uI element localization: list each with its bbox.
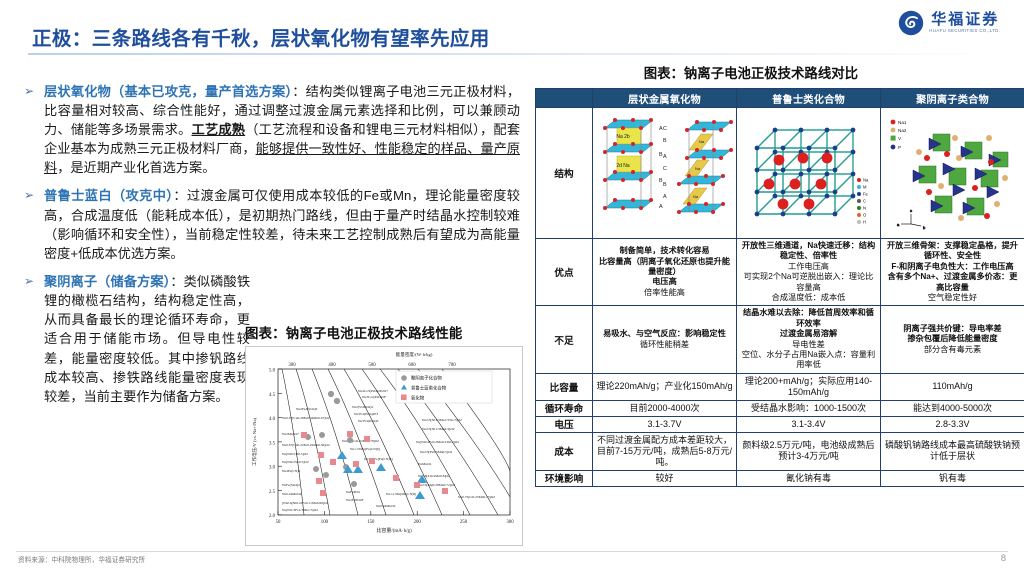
svg-text:B: B [663,182,667,188]
text-line: 循环性能稍差 [596,340,733,350]
svg-text:A: A [659,204,663,210]
text-line: 空气稳定性好 [884,293,1021,303]
table-header-polyanion: 聚阴离子类合物 [881,89,1024,108]
slide: 正极：三条路线各有千秋，层状氧化物有望率先应用 华福证券 HUAFU SECUR… [0,0,1024,576]
svg-text:Na4Co3(PO4)2P2O7: Na4Co3(PO4)2P2O7 [358,389,388,393]
chart-legend: 聚阴离子化合物 普鲁士蓝类化合物 氧化物 [396,371,492,403]
table-header-corner [536,89,593,108]
text-line: 可实现2个Na可逆脱出嵌入：理论比容量高 [740,272,877,293]
bullet-body-3: ，是近期产业化首选方案。 [57,160,215,175]
text-line: F-和阴离子电负性大：工作电压高 [884,262,1021,272]
svg-text:200: 200 [414,520,422,525]
chart-y-axis-label: 工作电压/V (vs. Na+/Na) [251,418,258,467]
svg-text:P: P [898,145,901,150]
bullet-colon: ： [170,274,183,289]
svg-text:a: a [897,222,900,227]
svg-text:700: 700 [448,363,456,368]
svg-text:2d Na: 2d Na [616,163,630,169]
cell-capacity-prussian: 理论200+mAh/g；实际应用140-150mAh/g [737,373,881,400]
svg-text:Na: Na [699,139,705,144]
text-line: 阴离子强共价键：导电率差 [884,324,1021,334]
text-line: 空位、水分子占用Na嵌入点：容量利用率低 [740,350,877,371]
text-line: 过渡金属易溶解 [740,329,877,339]
svg-text:A: A [663,154,667,160]
svg-text:300: 300 [288,363,296,368]
text-line: 倍率性能高 [596,288,733,298]
svg-text:B: B [663,138,667,144]
svg-text:Na 2b: Na 2b [616,134,630,140]
polyanion-structure-diagram: Na1 Na2 V P [881,108,1024,238]
logo-text-en: HUAFU SECURITIES CO.,LTD. [930,28,1001,33]
svg-text:4.0: 4.0 [269,417,276,422]
cell-cycle-layered-oxide: 目前2000-4000次 [593,400,737,416]
cell-voltage-polyanion: 2.8-3.3V [881,416,1024,432]
table-header-prussian: 普鲁士类化合物 [737,89,881,108]
footer-divider [16,551,1008,552]
svg-text:Na2/3[Fe0.5Mn0.5]O2: Na2/3[Fe0.5Mn0.5]O2 [420,450,453,454]
row-header-disadvantages: 不足 [536,306,593,373]
svg-text:Na3Co2(PO4)2F: Na3Co2(PO4)2F [362,395,386,399]
svg-text:3.0: 3.0 [269,466,276,471]
cell-environment-layered-oxide: 较好 [593,470,737,486]
svg-text:Na2FePO4F: Na2FePO4F [346,498,364,502]
cell-advantages-polyanion: 开放三维骨架：支撑稳定晶格，提升循环性、安全性 F-和阴离子电负性大：工作电压高… [881,239,1024,306]
cell-cost-polyanion: 磷酸钒钠路线成本最高硫酸铁钠预计低于层状 [881,432,1024,470]
row-header-cycle-life: 循环寿命 [536,400,593,416]
cell-voltage-prussian: 3.1-3.4V [737,416,881,432]
company-logo: 华福证券 HUAFU SECURITIES CO.,LTD. [898,10,1000,36]
svg-text:600: 600 [408,363,416,368]
text-line: 合成温度低：成本低 [740,293,877,303]
bullet-prussian-blue: ➢ 普鲁士蓝白（攻克中）：过渡金属可仅使用成本较低的Fe或Mn，理论能量密度较高… [22,186,520,262]
text-line: 掺杂包覆后降低能量密度 [884,334,1021,344]
svg-text:Na2Mn3O7: Na2Mn3O7 [282,432,299,436]
svg-text:Na2/3[Ni1/3Mn2/3]O2: Na2/3[Ni1/3Mn2/3]O2 [422,427,455,431]
svg-text:聚阴离子化合物: 聚阴离子化合物 [411,375,442,382]
svg-text:普鲁士蓝类化合物: 普鲁士蓝类化合物 [411,384,447,391]
cell-disadvantages-layered-oxide: 易吸水、与空气反应：影响稳定性 循环性能稍差 [593,306,737,373]
svg-text:3.5: 3.5 [269,441,276,446]
text-line: 电压高 [596,277,733,287]
spiral-logo-icon [898,10,924,36]
svg-text:C: C [663,166,667,172]
table-row: 不足 易吸水、与空气反应：影响稳定性 循环性能稍差 结晶水难以去除：降低首周效率… [536,306,1024,373]
cell-advantages-layered-oxide: 制备简单，技术转化容易 比容量高（阴离子氧化还原也提升能量密度） 电压高 倍率性… [593,239,737,306]
text-line: 比容量高（阴离子氧化还原也提升能量密度） [596,257,733,278]
svg-text:氧化物: 氧化物 [411,394,425,401]
cell-cost-layered-oxide: 不同过渡金属配方成本差距较大，目前7-15万元/吨，成熟后5-8万元/吨。 [593,432,737,470]
svg-text:C: C [663,126,667,132]
svg-text:Na2: Na2 [898,128,907,133]
cell-cycle-polyanion: 能达到4000-5000次 [881,400,1024,416]
svg-text:V: V [898,136,902,141]
chart-top-axis-label: 能量密度/(W·h/kg) [396,351,433,358]
page-title: 正极：三条路线各有千秋，层状氧化物有望率先应用 [32,22,490,51]
bullet-arrow-icon: ➢ [24,274,34,288]
bullet-text: 聚阴离子（储备方案）：类似磷酸铁锂的橄榄石结构，结构稳定性高，从而具备最长的理论… [44,272,250,406]
bullet-text: 层状氧化物（基本已攻克，量产首选方案）：结构类似锂离子电池三元正极材料，比容量相… [44,82,520,177]
svg-text:Na[Ni0.4Fe0.2Mn0.2Ti0.2]O2: Na[Ni0.4Fe0.2Mn0.2Ti0.2]O2 [416,440,459,444]
row-header-specific-capacity: 比容量 [536,373,593,400]
layered-metal-oxide-structure-diagram: Na 2b 2d Na AB BA [593,108,736,238]
svg-text:NaFe(SO4)2: NaFe(SO4)2 [282,483,300,487]
table-header-layered-oxide: 层状金属氧化物 [593,89,737,108]
bullet-layered-oxide: ➢ 层状氧化物（基本已攻克，量产首选方案）：结构类似锂离子电池三元正极材料，比容… [22,82,520,177]
svg-text:Na: Na [695,166,701,171]
svg-text:Na1.x Mn[Mn(CN)6]: Na1.x Mn[Mn(CN)6] [386,492,416,496]
svg-text:Na2Fe2(SO4)3: Na2Fe2(SO4)3 [296,407,318,411]
svg-text:Na0.44MnO2: Na0.44MnO2 [376,504,396,508]
cell-cycle-prussian: 受结晶水影响：1000-1500次 [737,400,881,416]
text-line: 开放三维骨架：支撑稳定晶格，提升循环性、安全性 [884,241,1021,262]
cell-capacity-polyanion: 110mAh/g [881,373,1024,400]
cell-environment-prussian: 氰化钠有毒 [737,470,881,486]
svg-text:NaFePO4: NaFePO4 [346,490,360,494]
text-line: 开放性三维通道，Na快速迁移：结构稳定性、倍率性 [740,241,877,262]
cell-structure-prussian: Na M Fe C N O H [737,108,881,239]
row-header-voltage: 电压 [536,416,593,432]
svg-text:Na3V2(PO4)2F3: Na3V2(PO4)2F3 [354,412,378,416]
cell-environment-polyanion: 钒有毒 [881,470,1024,486]
scatter-chart: 能量密度/(W·h/kg) 300 400 500 600 700 5.0 4.… [246,347,522,545]
svg-text:50: 50 [276,520,281,525]
text-line: 部分含有毒元素 [884,345,1021,355]
svg-text:5.0: 5.0 [269,369,276,374]
svg-text:Na1: Na1 [898,120,907,125]
source-note: 资料来源：中科院物理所，华福证券研究所 [18,554,145,564]
svg-text:2.5: 2.5 [269,490,276,495]
row-header-environment: 环境影响 [536,470,593,486]
chart-caption: 图表：钠离子电池正极技术路线性能 [245,322,523,342]
page-number: 8 [1001,553,1006,564]
cell-advantages-prussian: 开放性三维通道，Na快速迁移：结构稳定性、倍率性 工作电压高 可实现2个Na可逆… [737,239,881,306]
text-line: 工作电压高 [740,262,877,272]
bullet-emphasis-1: 工艺成熟 [192,122,246,137]
svg-text:Na2/3[Mg0.28Mn0.72]O2: Na2/3[Mg0.28Mn0.72]O2 [418,483,455,487]
svg-text:250: 250 [460,520,468,525]
svg-text:100: 100 [321,520,329,525]
table-row: 循环寿命 目前2000-4000次 受结晶水影响：1000-1500次 能达到4… [536,400,1024,416]
comparison-table-wrap: 层状金属氧化物 普鲁士类化合物 聚阴离子类合物 结构 [535,88,1024,487]
text-line: 含有多个Na+、过渡金属多价态：更高比容量 [884,272,1021,293]
table-caption: 图表：钠离子电池正极技术路线对比 [644,62,858,82]
cell-disadvantages-polyanion: 阴离子强共价键：导电率差 掺杂包覆后降低能量密度 部分含有毒元素 [881,306,1024,373]
text-line: 易吸水、与空气反应：影响稳定性 [596,329,733,339]
svg-text:Na: Na [693,194,699,199]
chart-card: 能量密度/(W·h/kg) 300 400 500 600 700 5.0 4.… [245,346,523,546]
svg-text:c: c [910,208,912,213]
chart-x-axis-label: 比容量/(mA·h/g) [376,527,412,534]
svg-text:C: C [863,199,866,204]
svg-text:N: N [863,206,866,211]
svg-text:500: 500 [368,363,376,368]
svg-text:b: b [923,225,926,230]
text-line: 结晶水难以去除：降低首周效率和循环效率 [740,308,877,329]
svg-text:A: A [663,194,667,200]
bullet-lead: 聚阴离子（储备方案） [44,274,170,289]
svg-text:300: 300 [506,520,514,525]
row-header-cost: 成本 [536,432,593,470]
svg-text:Na4Fe(CN)6: Na4Fe(CN)6 [282,469,301,473]
svg-text:Fe: Fe [863,192,869,197]
cell-capacity-layered-oxide: 理论220mAh/g；产业化150mAh/g [593,373,737,400]
prussian-blue-framework-diagram: Na M Fe C N O H [737,108,880,238]
bullet-arrow-icon: ➢ [24,188,34,202]
bullet-arrow-icon: ➢ [24,84,34,98]
comparison-table: 层状金属氧化物 普鲁士类化合物 聚阴离子类合物 结构 [535,88,1024,487]
title-divider [28,53,996,55]
svg-text:Na2/3[Ni1/3Mn1/3Ti1/3]O2: Na2/3[Ni1/3Mn1/3Ti1/3]O2 [422,418,462,422]
svg-text:Na1.72Mn[Fe(CN)6]: Na1.72Mn[Fe(CN)6] [350,447,380,451]
bullet-lead: 层状氧化物（基本已攻克，量产首选方案） [44,84,292,99]
svg-text:4.5: 4.5 [269,393,276,398]
table-row: 环境影响 较好 氰化钠有毒 钒有毒 [536,470,1024,486]
table-row: 成本 不同过渡金属配方成本差距较大，目前7-15万元/吨，成熟后5-8万元/吨。… [536,432,1024,470]
svg-text:400: 400 [328,363,336,368]
svg-text:Na[Ni0.5Sb0.5]O2: Na[Ni0.5Sb0.5]O2 [282,460,309,464]
bullet-body-1: 类似磷酸铁锂的橄榄石结构，结构稳定性高，从而具备最长的理论循环寿命，更适合用于储… [44,274,250,404]
cell-structure-polyanion: Na1 Na2 V P [881,108,1024,239]
table-row: 优点 制备简单，技术转化容易 比容量高（阴离子氧化还原也提升能量密度） 电压高 … [536,239,1024,306]
table-row: 电压 3.1-3.7V 3.1-3.4V 2.8-3.3V [536,416,1024,432]
svg-text:Na2(VOPO4)2: Na2(VOPO4)2 [352,405,373,409]
svg-text:Na0.67[Cu0.22Fe0.22Mn0.56]O2: Na0.67[Cu0.22Fe0.22Mn0.56]O2 [282,443,330,447]
cell-structure-layered-oxide: Na 2b 2d Na AB BA [593,108,737,239]
table-header-row: 层状金属氧化物 普鲁士类化合物 聚阴离子类合物 [536,89,1024,108]
table-row: 比容量 理论220mAh/g；产业化150mAh/g 理论200+mAh/g；实… [536,373,1024,400]
svg-text:Na0.75[Li0.25Mn0.75]O2: Na0.75[Li0.25Mn0.75]O2 [458,495,495,499]
cell-disadvantages-prussian: 结晶水难以去除：降低首周效率和循环效率 过渡金属易溶解 导电性差 空位、水分子占… [737,306,881,373]
slide-header: 正极：三条路线各有千秋，层状氧化物有望率先应用 华福证券 HUAFU SECUR… [0,0,1024,58]
svg-text:Na[Ni0.5Ti0.5]O2: Na[Ni0.5Ti0.5]O2 [282,452,308,456]
bullet-colon: ： [173,188,187,203]
row-header-advantages: 优点 [536,239,593,306]
svg-text:150: 150 [367,520,375,525]
svg-text:[Na0.6[Ni0.22Fe0.11Mn0.66]O2: [Na0.6[Ni0.22Fe0.11Mn0.66]O2 [282,501,329,505]
row-header-structure: 结构 [536,108,593,239]
svg-text:M: M [863,185,867,190]
svg-text:H: H [863,220,866,225]
svg-text:Na3V2(PO4)3: Na3V2(PO4)3 [358,419,379,423]
performance-chart-block: 图表：钠离子电池正极技术路线性能 能量密度/(W·h/kg) 300 400 5… [245,322,523,546]
bullet-lead: 普鲁士蓝白（攻克中） [44,188,173,203]
svg-text:Na: Na [863,178,869,183]
svg-text:NaMnO2: NaMnO2 [418,462,431,466]
cell-cost-prussian: 颜料级2.5万元/吨，电池级成熟后预计3-4万元/吨 [737,432,881,470]
svg-text:Na(Ni1/3Fe1/3Mn1/3)O2: Na(Ni1/3Fe1/3Mn1/3)O2 [282,508,318,512]
text-line: 导电性差 [740,340,877,350]
cell-voltage-layered-oxide: 3.1-3.7V [593,416,737,432]
bullet-polyanion: ➢ 聚阴离子（储备方案）：类似磷酸铁锂的橄榄石结构，结构稳定性高，从而具备最长的… [22,272,250,406]
svg-text:O: O [863,213,867,218]
table-row: 结构 [536,108,1024,239]
text-line: 制备简单，技术转化容易 [596,246,733,256]
logo-text-cn: 华福证券 [931,13,999,29]
bullet-colon: ： [292,84,305,99]
svg-text:Na1.92Fe[Fe(CN)6]: Na1.92Fe[Fe(CN)6] [364,457,392,461]
svg-text:Na0.44MnO2: Na0.44MnO2 [282,492,302,496]
svg-text:Na0.67[Cu0.28Fe0.34Mn0.67]O2: Na0.67[Cu0.28Fe0.34Mn0.67]O2 [282,416,330,420]
svg-text:2.0: 2.0 [269,514,276,519]
bullet-text: 普鲁士蓝白（攻克中）：过渡金属可仅使用成本较低的Fe或Mn，理论能量密度较高，合… [44,186,520,262]
